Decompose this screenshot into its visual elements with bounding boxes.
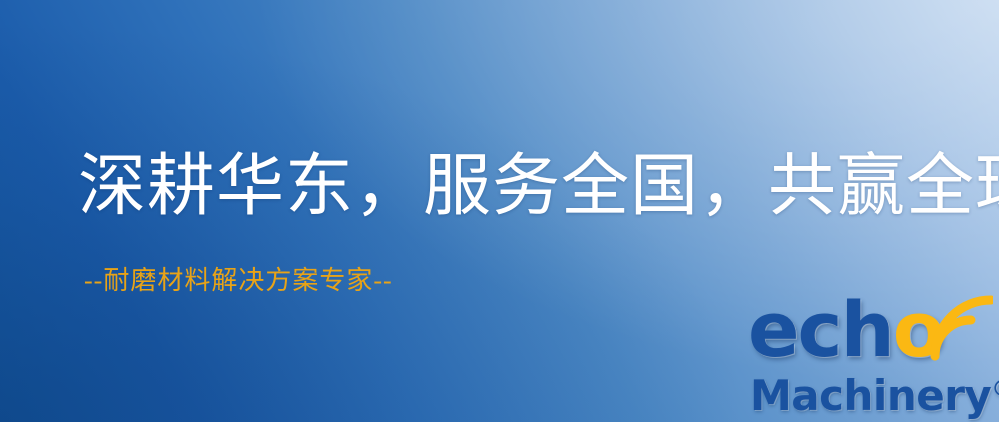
logo-wordmark-prefix: ech [748, 285, 893, 374]
banner-headline: 深耕华东，服务全国，共赢全球 [78, 146, 999, 226]
logo-tagline-text: Machinery [750, 371, 991, 420]
company-logo: echo Machinery® [744, 292, 996, 418]
promo-banner: 深耕华东，服务全国，共赢全球 --耐磨材料解决方案专家-- echo Machi… [0, 0, 999, 422]
logo-tagline: Machinery® [750, 368, 999, 418]
banner-subtitle: --耐磨材料解决方案专家-- [84, 265, 393, 296]
signal-waves-icon [927, 290, 993, 362]
registered-trademark-icon: ® [991, 377, 999, 402]
logo-wordmark: echo [748, 292, 943, 368]
